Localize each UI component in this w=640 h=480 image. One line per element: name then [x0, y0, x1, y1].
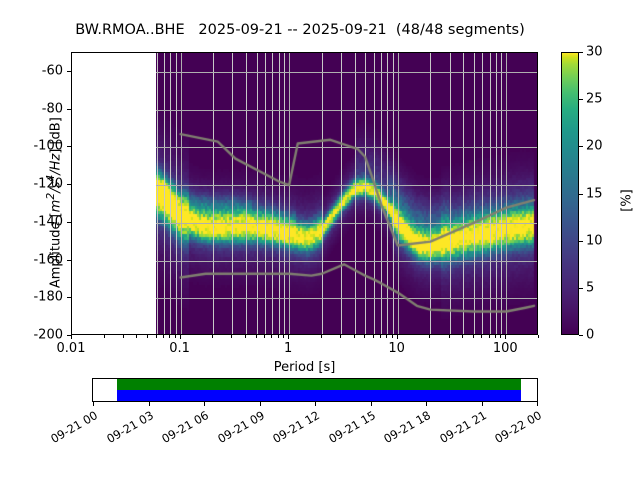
- timeline-tick-label: 09-21 09: [206, 408, 267, 451]
- x-tick: [380, 335, 381, 338]
- timeline-tick-label: 09-21 06: [150, 408, 211, 451]
- x-tick-label: 0.01: [57, 341, 86, 356]
- x-tick: [495, 335, 496, 338]
- x-tick: [505, 335, 506, 339]
- colorbar-tick-label: 20: [586, 139, 603, 154]
- timeline-tick: [537, 402, 538, 406]
- colorbar-tick-label: 25: [586, 92, 603, 107]
- x-tick: [163, 335, 164, 338]
- x-tick: [321, 335, 322, 338]
- timeline-tick: [149, 402, 150, 406]
- timeline-tick-label: 09-21 03: [95, 408, 156, 451]
- x-tick: [136, 335, 137, 338]
- x-tick: [288, 335, 289, 339]
- x-tick: [481, 335, 482, 338]
- timeline-tick-label: 09-21 15: [317, 408, 378, 451]
- timeline-tick-label: 09-21 00: [39, 408, 100, 451]
- x-tick: [147, 335, 148, 338]
- timeline-tick: [204, 402, 205, 406]
- timeline-tick-label: 09-21 18: [372, 408, 433, 451]
- no-data-region: [72, 53, 156, 334]
- x-tick: [212, 335, 213, 338]
- x-tick: [271, 335, 272, 338]
- x-tick: [538, 335, 539, 338]
- x-tick: [175, 335, 176, 338]
- timeline-tick: [482, 402, 483, 406]
- x-tick-label: 0.1: [169, 341, 190, 356]
- x-tick: [449, 335, 450, 338]
- x-tick: [489, 335, 490, 338]
- page-title: BW.RMOA..BHE 2025-09-21 -- 2025-09-21 (4…: [0, 22, 600, 38]
- colorbar-tick: [579, 288, 583, 289]
- colorbar-label: [%]: [620, 101, 635, 301]
- timeline-tick: [315, 402, 316, 406]
- colorbar-tick: [579, 335, 583, 336]
- x-tick: [278, 335, 279, 338]
- colorbar-tick: [579, 52, 583, 53]
- x-tick: [340, 335, 341, 338]
- timeline-tick: [260, 402, 261, 406]
- colorbar: [561, 52, 579, 335]
- x-tick: [283, 335, 284, 338]
- x-tick-label: 10: [388, 341, 405, 356]
- x-axis-label: Period [s]: [71, 360, 538, 375]
- x-tick: [256, 335, 257, 338]
- colorbar-tick: [579, 146, 583, 147]
- y-axis-label: Amplitude [m2/s4/Hz] [dB]: [44, 63, 63, 343]
- data-coverage-timeline[interactable]: [92, 378, 538, 402]
- x-tick: [462, 335, 463, 338]
- x-tick: [373, 335, 374, 338]
- x-tick: [500, 335, 501, 338]
- x-tick-label: 100: [493, 341, 518, 356]
- x-tick: [392, 335, 393, 338]
- colorbar-tick-label: 10: [586, 233, 603, 248]
- x-tick: [397, 335, 398, 339]
- data-coverage-green: [117, 379, 521, 390]
- x-tick: [473, 335, 474, 338]
- x-tick: [264, 335, 265, 338]
- timeline-tick: [93, 402, 94, 406]
- timeline-tick: [371, 402, 372, 406]
- colorbar-tick: [579, 99, 583, 100]
- x-tick-label: 1: [284, 341, 292, 356]
- x-tick: [180, 335, 181, 339]
- colorbar-tick-label: 15: [586, 186, 603, 201]
- x-tick: [354, 335, 355, 338]
- x-tick: [156, 335, 157, 338]
- x-tick: [71, 335, 72, 339]
- ppsd-figure: BW.RMOA..BHE 2025-09-21 -- 2025-09-21 (4…: [0, 0, 640, 480]
- x-tick: [231, 335, 232, 338]
- y-tick: [67, 184, 71, 185]
- x-tick: [386, 335, 387, 338]
- colorbar-tick: [579, 194, 583, 195]
- data-coverage-blue: [117, 390, 521, 401]
- y-tick: [67, 109, 71, 110]
- x-tick: [123, 335, 124, 338]
- timeline-tick: [426, 402, 427, 406]
- x-tick: [169, 335, 170, 338]
- x-tick: [429, 335, 430, 338]
- y-tick: [67, 222, 71, 223]
- timeline-tick-label: 09-21 21: [428, 408, 489, 451]
- y-tick: [67, 146, 71, 147]
- y-tick: [67, 297, 71, 298]
- ppsd-plot-area[interactable]: [71, 52, 538, 335]
- x-tick: [104, 335, 105, 338]
- colorbar-tick-label: 0: [586, 328, 594, 343]
- colorbar-tick-label: 5: [586, 280, 594, 295]
- colorbar-tick-label: 30: [586, 45, 603, 60]
- x-tick: [245, 335, 246, 338]
- timeline-tick-label: 09-21 12: [261, 408, 322, 451]
- y-axis-label-text: Amplitude [m2/s4/Hz] [dB]: [49, 117, 64, 288]
- y-tick: [67, 260, 71, 261]
- colorbar-tick: [579, 241, 583, 242]
- timeline-tick-label: 09-22 00: [483, 408, 544, 451]
- y-tick: [67, 71, 71, 72]
- x-tick: [364, 335, 365, 338]
- y-tick: [67, 335, 71, 336]
